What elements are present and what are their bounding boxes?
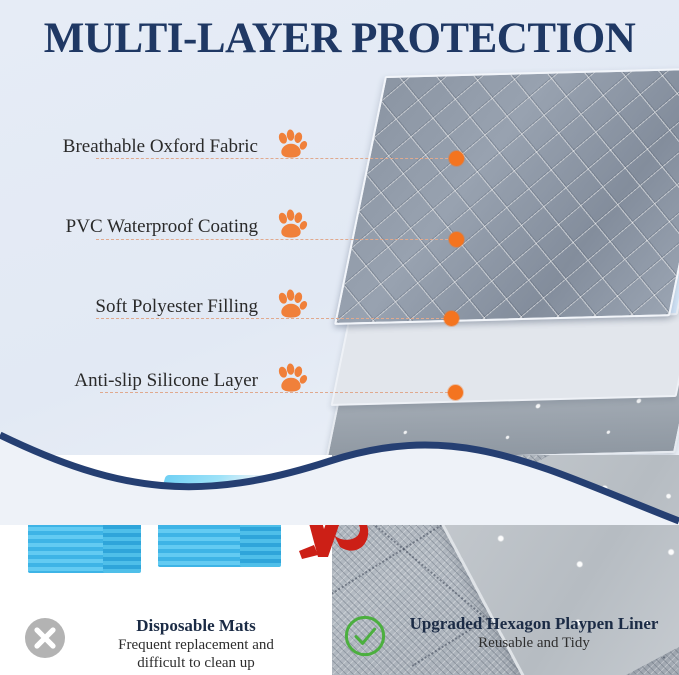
feature-row-pvc: PVC Waterproof Coating <box>0 202 330 242</box>
paw-icon <box>274 362 308 396</box>
comparison-subtitle-disposable-line1: Frequent replacement and <box>78 636 314 654</box>
comparison-subtitle-liner-line1: Reusable and Tidy <box>398 634 670 652</box>
check-icon <box>344 615 386 657</box>
feature-label-oxford: Breathable Oxford Fabric <box>63 136 258 158</box>
leader-dot-silicone <box>448 385 463 400</box>
paw-icon <box>274 288 308 322</box>
leader-line-polyester <box>96 318 444 319</box>
feature-label-silicone: Anti-slip Silicone Layer <box>74 370 258 392</box>
comparison-text-liner: Upgraded Hexagon Playpen Liner Reusable … <box>398 613 670 652</box>
feature-row-silicone: Anti-slip Silicone Layer <box>0 356 330 396</box>
feature-row-oxford: Breathable Oxford Fabric <box>0 122 330 162</box>
comparison-title-liner: Upgraded Hexagon Playpen Liner <box>398 613 670 634</box>
feature-row-polyester: Soft Polyester Filling <box>0 282 330 322</box>
leader-dot-oxford <box>449 151 464 166</box>
paw-icon <box>274 208 308 242</box>
leader-dot-polyester <box>444 311 459 326</box>
feature-label-polyester: Soft Polyester Filling <box>95 296 258 318</box>
comparison-text-disposable: Disposable Mats Frequent replacement and… <box>78 615 314 672</box>
leader-line-silicone <box>100 392 448 393</box>
product-infographic: MULTI-LAYER PROTECTION Breathable Oxford… <box>0 0 679 675</box>
paw-icon <box>274 128 308 162</box>
oxford-fabric-layer-sheet <box>334 67 679 325</box>
wave-divider <box>0 415 679 525</box>
leader-line-pvc <box>96 239 448 240</box>
leader-dot-pvc <box>449 232 464 247</box>
cross-icon <box>24 617 66 659</box>
leader-line-oxford <box>96 158 448 159</box>
feature-label-pvc: PVC Waterproof Coating <box>66 216 258 238</box>
comparison-subtitle-disposable-line2: difficult to clean up <box>78 654 314 672</box>
comparison-title-disposable: Disposable Mats <box>78 615 314 636</box>
